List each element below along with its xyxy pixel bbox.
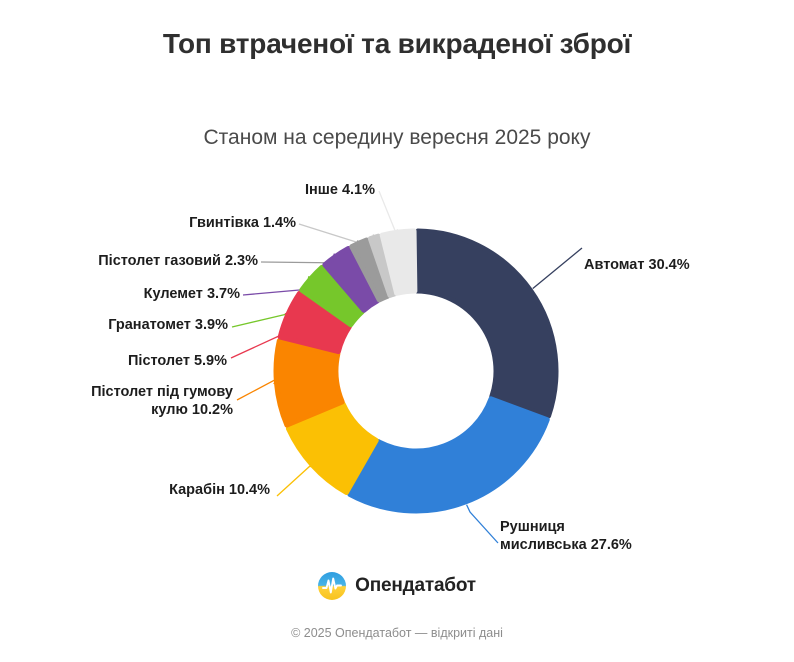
- leader-line: [277, 466, 310, 496]
- donut-slices: [276, 231, 556, 511]
- slice-label-karabin: Карабін 10.4%: [0, 481, 270, 499]
- slice-label-hvyntivka: Гвинтівка 1.4%: [0, 214, 296, 232]
- donut-slice[interactable]: [350, 399, 547, 511]
- brand-name: Опендатабот: [355, 575, 476, 597]
- slice-label-pistolet-gazovyi: Пістолет газовий 2.3%: [0, 252, 258, 270]
- slice-label-granatomet: Гранатомет 3.9%: [0, 316, 228, 334]
- slice-label-pistolet-guma: Пістолет під гумову кулю 10.2%: [0, 383, 233, 419]
- leader-line: [533, 248, 582, 289]
- copyright-text: © 2025 Опендатабот — відкриті дані: [0, 626, 794, 640]
- chart-page: Топ втраченої та викраденої зброї Станом…: [0, 0, 794, 662]
- slice-label-inshe: Інше 4.1%: [0, 181, 375, 199]
- slice-label-pistolet: Пістолет 5.9%: [0, 352, 227, 370]
- slice-label-avtomat: Автомат 30.4%: [584, 256, 690, 274]
- donut-chart: Автомат 30.4% Рушниця мисливська 27.6% К…: [0, 0, 794, 662]
- leader-line: [467, 505, 498, 543]
- opendatabot-logo-icon: [318, 572, 346, 600]
- donut-slice[interactable]: [417, 231, 556, 416]
- brand-logo: Опендатабот: [0, 572, 794, 600]
- leader-line: [379, 191, 398, 233]
- slice-label-rushnytsia: Рушниця мисливська 27.6%: [500, 518, 632, 554]
- slice-label-kulemet: Кулемет 3.7%: [0, 285, 240, 303]
